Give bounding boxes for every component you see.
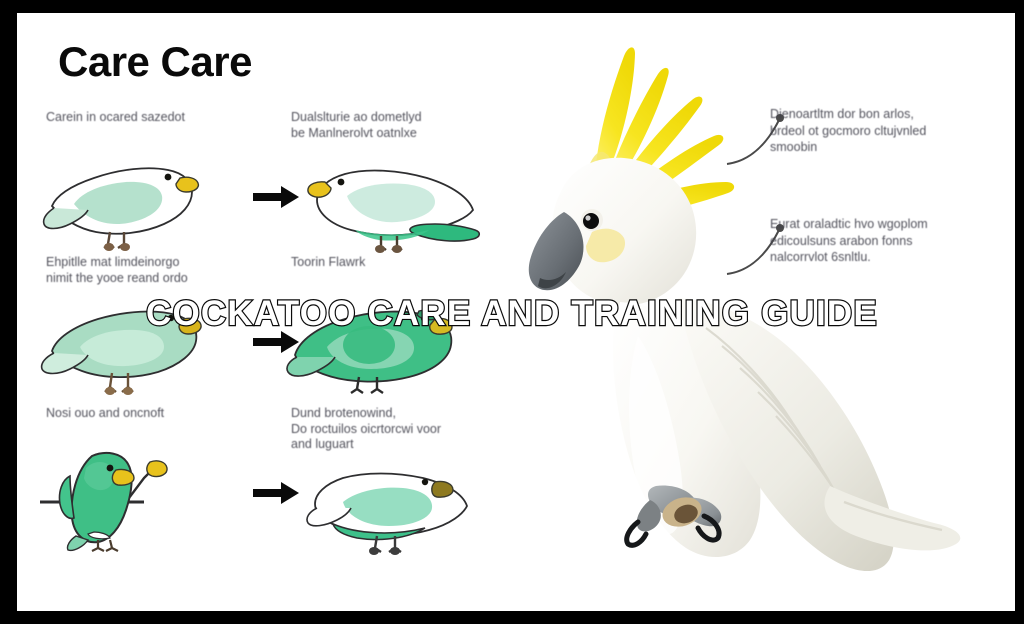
parrot-white-green-tail-icon — [285, 144, 485, 256]
overlay-title: COCKATOO CARE AND TRAINING GUIDE — [0, 294, 1024, 334]
step-caption: Carein in ocared sazedot — [46, 110, 246, 126]
frame-right-border — [1015, 0, 1024, 624]
step-caption: Nosi ouo and oncnoft — [46, 406, 246, 422]
frame-bottom-border — [0, 611, 1024, 624]
annotation-text: Eurat oraladtic hvo wgoplom edicoulsuns … — [770, 216, 985, 266]
step-cell: Nosi ouo and oncnoft — [40, 406, 245, 556]
parrot-white-mint-perched-icon — [40, 144, 240, 256]
steps-panel: Carein in ocared sazedot Dualsl — [40, 110, 510, 580]
step-cell: Carein in ocared sazedot — [40, 110, 245, 260]
infographic-canvas: Care Care Carein in ocared sazedot — [0, 0, 1024, 624]
step-caption: Toorin Flawrk — [291, 255, 491, 271]
frame-top-border — [0, 0, 1024, 13]
page-title: Care Care — [58, 38, 252, 86]
step-caption: Dund brotenowind, Do roctuilos oicrtorcw… — [291, 406, 491, 453]
step-row: Carein in ocared sazedot Dualsl — [40, 110, 510, 260]
parrot-white-green-standing-icon — [285, 456, 485, 568]
parrot-green-upright-on-branch-icon — [40, 440, 240, 552]
step-cell: Dund brotenowind, Do roctuilos oicrtorcw… — [285, 406, 490, 556]
step-row: Nosi ouo and oncnoft — [40, 406, 510, 556]
step-cell: Dualslturie ao dometlyd be Manlnerolvt o… — [285, 110, 490, 260]
step-caption: Ehpitlle mat limdeinorgo nimit the yooe … — [46, 255, 246, 286]
annotation-text: Dienoartltm dor bon arlos, brdeol ot goc… — [770, 106, 985, 156]
step-caption: Dualslturie ao dometlyd be Manlnerolvt o… — [291, 110, 491, 141]
frame-left-border — [0, 0, 17, 624]
